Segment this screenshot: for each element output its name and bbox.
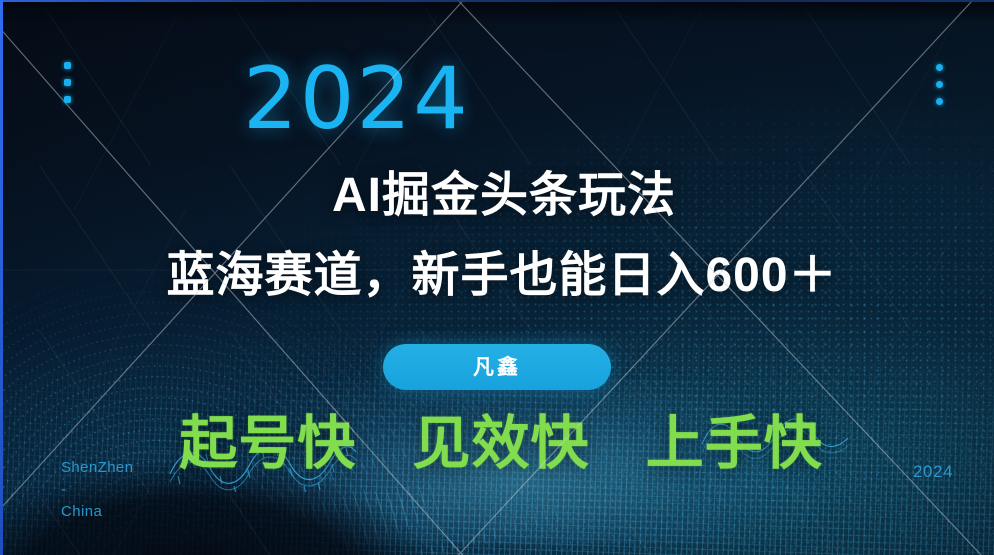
location-separator: - [61, 479, 133, 501]
dot-indicator-right [936, 64, 943, 105]
location-caption: ShenZhen - China [61, 457, 133, 522]
location-country: China [61, 501, 133, 523]
tagline-part-3: 上手快 [646, 411, 823, 476]
top-shade [0, 2, 994, 24]
dot-icon [936, 98, 943, 105]
dot-icon [64, 62, 71, 69]
year-caption-bottom: 2024 [913, 462, 953, 482]
year-heading-top: 2024 [243, 56, 470, 142]
tagline-part-1: 起号快 [179, 411, 356, 476]
left-edge-accent [0, 0, 3, 555]
dot-indicator-left [64, 62, 71, 103]
tagline-part-2: 见效快 [412, 411, 589, 476]
tagline-group: 起号快 见效快 上手快 [0, 415, 994, 473]
dot-icon [64, 96, 71, 103]
author-badge: 凡鑫 [383, 344, 611, 390]
dot-icon [936, 64, 943, 71]
page-title: AI掘金头条玩法 [0, 172, 994, 220]
promo-poster: 2024 AI掘金头条玩法 蓝海赛道，新手也能日入600＋ 凡鑫 起号快 见效快… [0, 0, 994, 555]
page-subtitle: 蓝海赛道，新手也能日入600＋ [0, 252, 994, 300]
dot-icon [64, 79, 71, 86]
dot-icon [936, 81, 943, 88]
top-edge-accent [0, 0, 994, 2]
poster-content: 2024 AI掘金头条玩法 蓝海赛道，新手也能日入600＋ 凡鑫 起号快 见效快… [0, 0, 994, 555]
location-city: ShenZhen [61, 457, 133, 479]
